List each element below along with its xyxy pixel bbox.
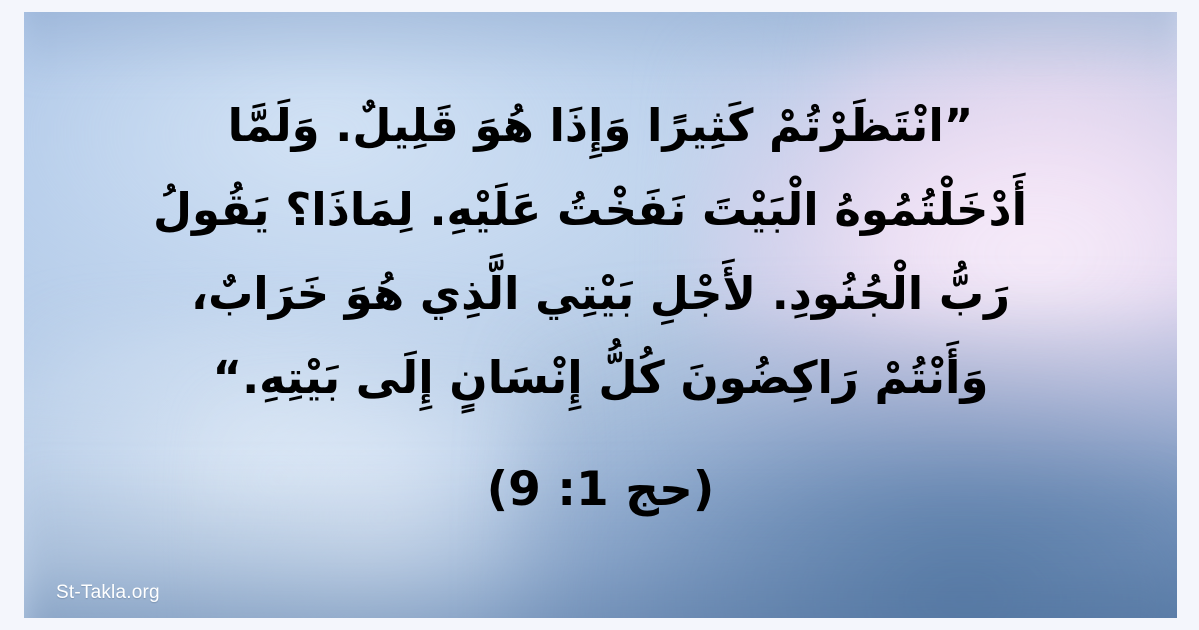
verse-line-1: ”انْتَظَرْتُمْ كَثِيرًا وَإِذَا هُوَ قَل… [174, 84, 1027, 168]
verse-image-root: ”انْتَظَرْتُمْ كَثِيرًا وَإِذَا هُوَ قَل… [0, 0, 1199, 630]
verse-line-3: رَبُّ الْجُنُودِ. لأَجْلِ بَيْتِي الَّذِ… [174, 252, 1027, 336]
verse-reference: (حج 1: 9) [24, 460, 1177, 520]
background-shade-top-edge [24, 12, 1177, 85]
verse-text-block: ”انْتَظَرْتُمْ كَثِيرًا وَإِذَا هُوَ قَل… [24, 84, 1177, 420]
site-watermark: St-Takla.org [56, 582, 160, 604]
verse-line-4: وَأَنْتُمْ رَاكِضُونَ كُلُّ إِنْسَانٍ إِ… [174, 336, 1027, 420]
artwork-canvas: ”انْتَظَرْتُمْ كَثِيرًا وَإِذَا هُوَ قَل… [24, 12, 1177, 618]
verse-line-2: أَدْخَلْتُمُوهُ الْبَيْتَ نَفَخْتُ عَلَي… [174, 168, 1027, 252]
